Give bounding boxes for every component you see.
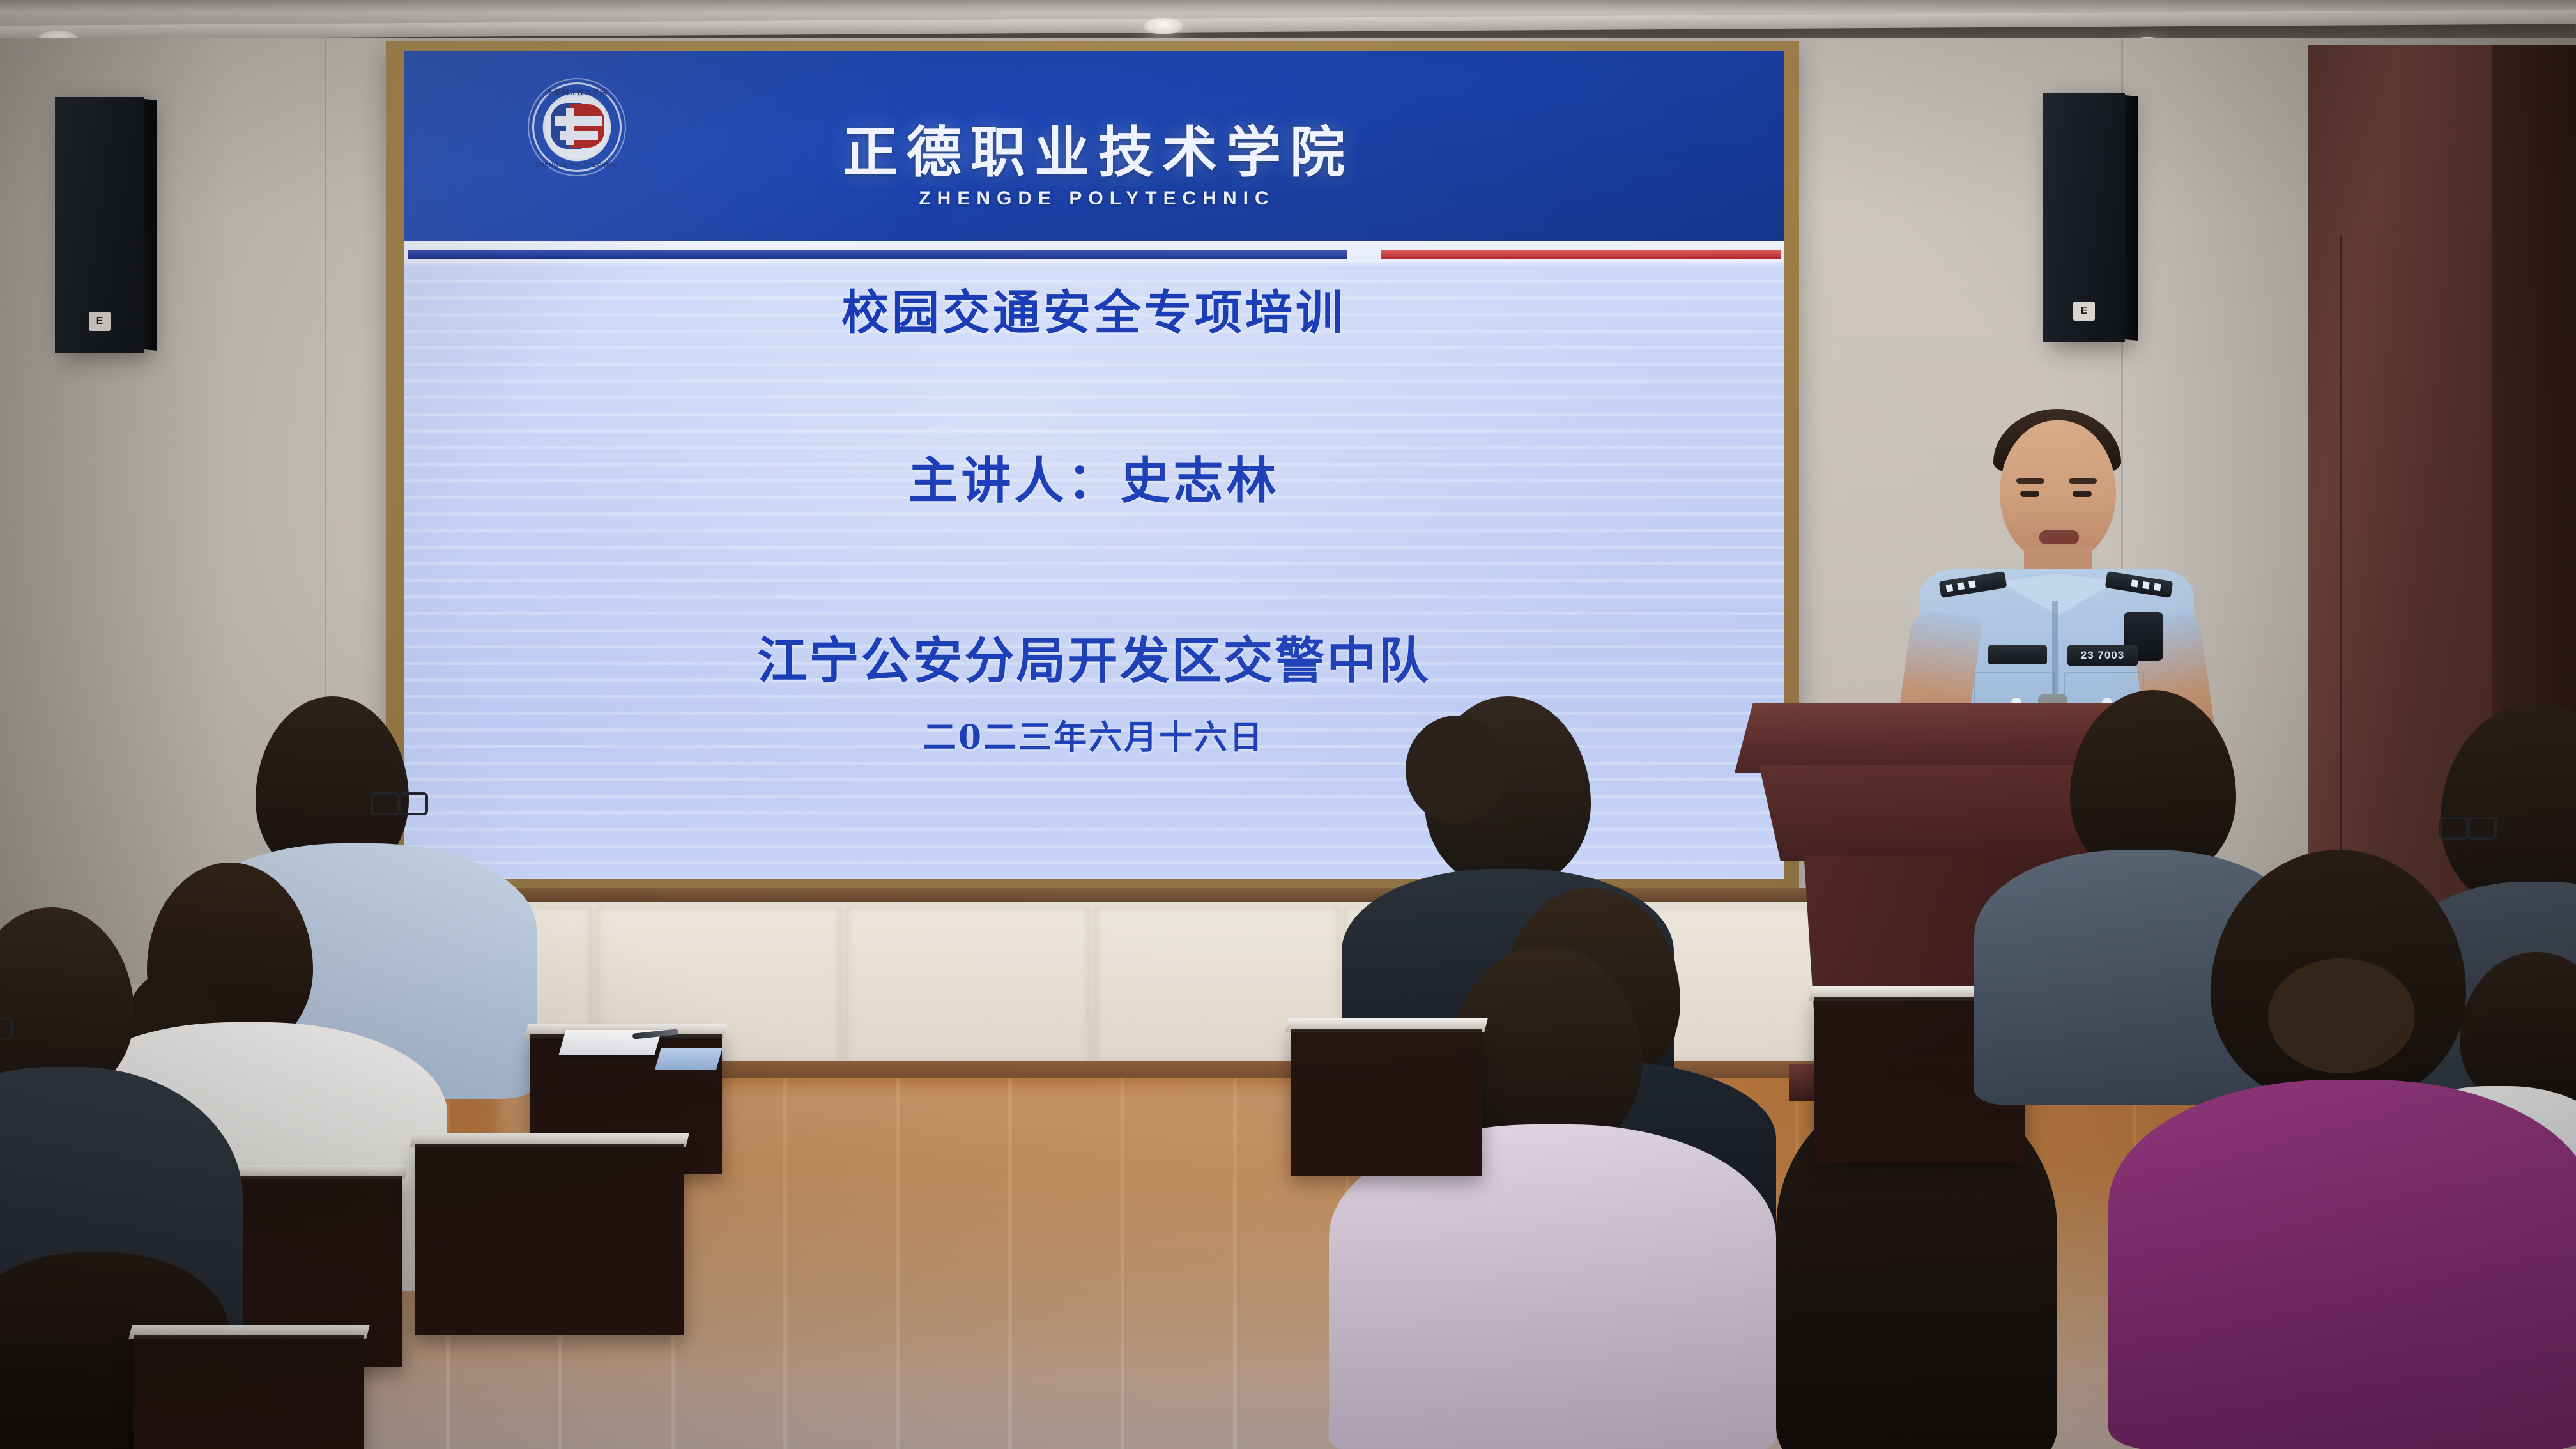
divider-blue-bar xyxy=(408,250,1347,259)
presenter-mouth xyxy=(2039,530,2079,544)
divider-red-bar xyxy=(1381,250,1781,259)
slide-header: 正德职业技术学院 ZHENGDE POLYTECHNIC 正德职业技术学院 ZH… xyxy=(404,51,1784,241)
slide-school-name-cn: 正德职业技术学院 xyxy=(404,107,1784,187)
slide-school-name-en: ZHENGDE POLYTECHNIC xyxy=(404,188,1784,210)
slide-organization: 江宁公安分局开发区交警中队 xyxy=(404,621,1784,693)
audience-glasses xyxy=(2439,816,2497,836)
desk-row1-left xyxy=(134,1335,364,1449)
conference-room-scene: 正德职业技术学院 ZHENGDE POLYTECHNIC 正德职业技术学院 ZH… xyxy=(0,0,2576,1449)
downlight-2 xyxy=(1144,18,1183,34)
slide-speaker: 主讲人：史志林 xyxy=(404,441,1784,512)
audience-glasses xyxy=(0,1017,13,1036)
wall-pad xyxy=(846,906,1090,1064)
audience-glasses xyxy=(371,792,428,811)
wall-speaker-left-icon: E xyxy=(55,97,144,353)
desk-row3-right xyxy=(1291,1029,1482,1176)
speaker-brand-badge: E xyxy=(2073,302,2095,321)
logo-ring-text-cn: 正德职业技术学院 xyxy=(529,87,625,97)
speaker-brand-badge: E xyxy=(89,312,111,331)
audience-hair-bun xyxy=(2268,958,2415,1073)
audience-hair-bun xyxy=(1406,716,1508,824)
audience-torso xyxy=(2108,1080,2576,1449)
slide-title: 校园交通安全专项培训 xyxy=(404,275,1784,343)
presenter-name-tag: 23 7003 xyxy=(2067,645,2138,666)
audience-member-9 xyxy=(2096,850,2576,1449)
presenter-chest-badge xyxy=(1988,645,2047,664)
desk-row2-center xyxy=(415,1144,684,1335)
wall-speaker-right-icon: E xyxy=(2043,93,2125,342)
blue-card xyxy=(655,1048,723,1069)
